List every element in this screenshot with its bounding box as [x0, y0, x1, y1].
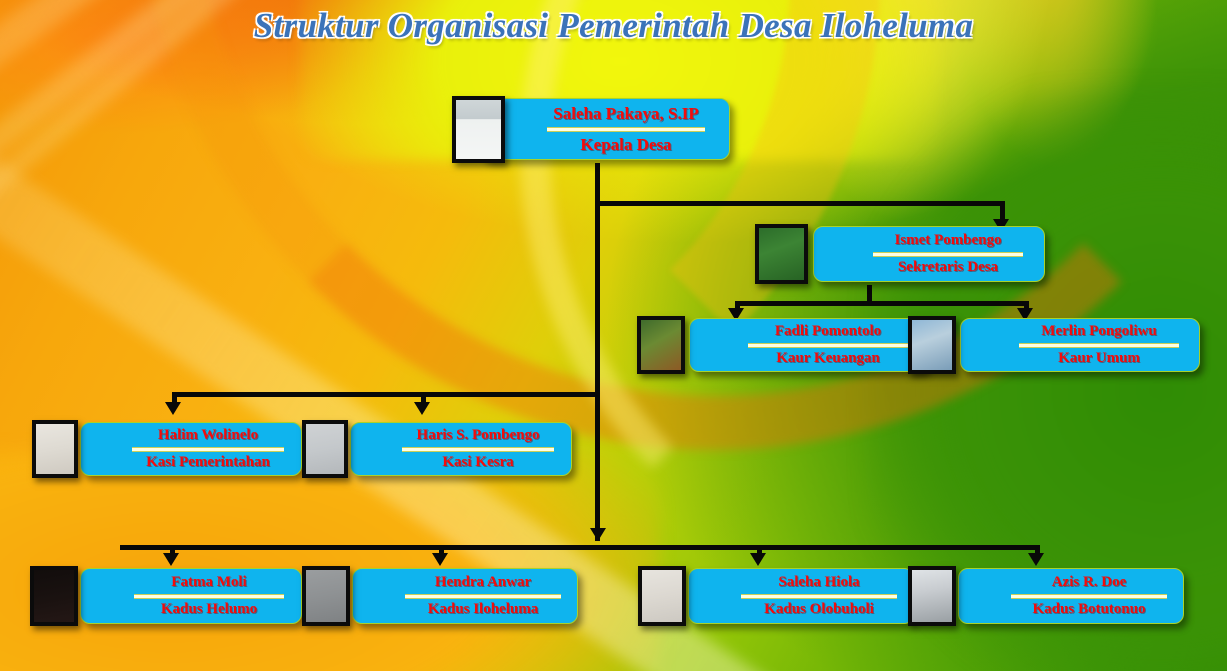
page-title: Struktur Organisasi Pemerintah Desa Iloh…: [0, 6, 1227, 46]
card-divider: [748, 343, 908, 348]
connector-to-sekretaris-horizontal: [595, 201, 1005, 206]
connector-trunk-main: [595, 163, 600, 541]
node-role: Kepala Desa: [580, 136, 671, 154]
avatar-photo-kadus-botutonuo: [908, 566, 956, 626]
node-name: Ismet Pombengo: [894, 233, 1001, 249]
card-divider: [1011, 594, 1167, 599]
connector-kadus-bus: [120, 545, 1040, 550]
card-divider: [405, 594, 561, 599]
arrowhead-kadus-olobuholi: [750, 553, 766, 566]
card-divider: [547, 127, 705, 132]
node-name: Saleha Pakaya, S.IP: [553, 105, 698, 123]
card-divider: [402, 447, 554, 452]
avatar-photo-kadus-helumo: [30, 566, 78, 626]
connector-kasi-bus: [172, 392, 600, 397]
arrowhead-kasi-pemerintahan: [165, 402, 181, 415]
card-divider: [132, 447, 284, 452]
node-name: Hendra Anwar: [435, 575, 531, 591]
node-name: Azis R. Doe: [1052, 575, 1127, 591]
arrowhead-trunk-bottom: [590, 528, 606, 541]
node-role: Kasi Kesra: [442, 455, 513, 471]
arrowhead-kasi-kesra: [414, 402, 430, 415]
node-role: Kadus Iloheluma: [428, 602, 538, 618]
node-role: Kaur Umum: [1058, 351, 1140, 367]
arrowhead-kadus-botutonuo: [1028, 553, 1044, 566]
avatar-photo-kaur-keuangan: [637, 316, 685, 374]
node-role: Kadus Botutonuo: [1033, 602, 1146, 618]
node-name: Haris S. Pombengo: [417, 428, 540, 444]
card-divider: [873, 252, 1023, 257]
arrowhead-kadus-iloheluma: [432, 553, 448, 566]
avatar-photo-kadus-iloheluma: [302, 566, 350, 626]
avatar-photo-kasi-kesra: [302, 420, 348, 478]
node-role: Kaur Keuangan: [776, 351, 880, 367]
arrowhead-kadus-helumo: [163, 553, 179, 566]
node-role: Kadus Olobuholi: [764, 602, 874, 618]
node-name: Merlin Pongoliwu: [1041, 324, 1156, 340]
node-name: Saleha Hiola: [778, 575, 859, 591]
node-role: Kadus Helumo: [161, 602, 257, 618]
org-chart-canvas: Struktur Organisasi Pemerintah Desa Iloh…: [0, 0, 1227, 671]
avatar-photo-kepala-desa: [452, 96, 505, 163]
node-name: Fadli Pomontolo: [775, 324, 881, 340]
node-role: Kasi Pemerintahan: [146, 455, 270, 471]
card-divider: [741, 594, 897, 599]
avatar-photo-kasi-pemerintahan: [32, 420, 78, 478]
node-name: Halim Wolinelo: [158, 428, 258, 444]
connector-kaur-bus: [735, 301, 1029, 306]
node-role: Sekretaris Desa: [898, 260, 998, 276]
avatar-photo-kadus-olobuholi: [638, 566, 686, 626]
avatar-photo-kaur-umum: [908, 316, 956, 374]
avatar-photo-sekretaris-desa: [755, 224, 808, 284]
card-divider: [134, 594, 284, 599]
node-name: Fatma Moli: [171, 575, 246, 591]
card-divider: [1019, 343, 1179, 348]
